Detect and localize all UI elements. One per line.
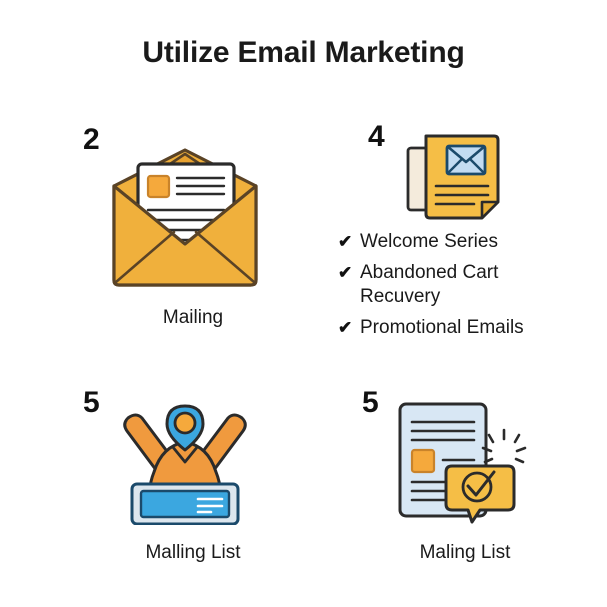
tile-mailing: 2 — [78, 120, 308, 335]
checklist-item-label: Promotional Emails — [360, 316, 524, 340]
step-number-3: 5 — [83, 388, 100, 418]
document-with-check-bubble-icon — [386, 400, 536, 530]
checklist-item: ✔ Welcome Series — [338, 230, 588, 254]
checklist-item-label: Abandoned Cart Recuvery — [360, 261, 498, 309]
tile-maling-list: 5 — [350, 388, 580, 573]
tile-label-maling-list: Maling List — [350, 543, 580, 562]
email-types-checklist: ✔ Welcome Series ✔ Abandoned Cart Recuve… — [338, 230, 588, 347]
step-number-4: 5 — [362, 388, 379, 418]
page-title: Utilize Email Marketing — [0, 36, 607, 70]
step-number-2: 4 — [368, 122, 385, 152]
check-icon: ✔ — [338, 230, 360, 254]
open-envelope-with-letter-icon — [100, 140, 270, 290]
check-icon: ✔ — [338, 316, 360, 340]
step-number-1: 2 — [83, 125, 100, 155]
tile-label-mailing: Mailing — [78, 308, 308, 327]
tile-email-types: 4 — [360, 118, 590, 228]
document-with-envelope-icon — [404, 130, 514, 230]
check-icon: ✔ — [338, 261, 360, 285]
tile-malling-list: 5 — [78, 388, 308, 573]
checklist-item-label: Welcome Series — [360, 230, 498, 254]
infographic-canvas: Utilize Email Marketing 2 — [0, 0, 607, 607]
tile-label-malling-list: Malling List — [78, 543, 308, 562]
person-raised-arms-with-screen-icon — [110, 400, 260, 525]
checklist-item: ✔ Promotional Emails — [338, 316, 588, 340]
checklist-item: ✔ Abandoned Cart Recuvery — [338, 261, 588, 309]
